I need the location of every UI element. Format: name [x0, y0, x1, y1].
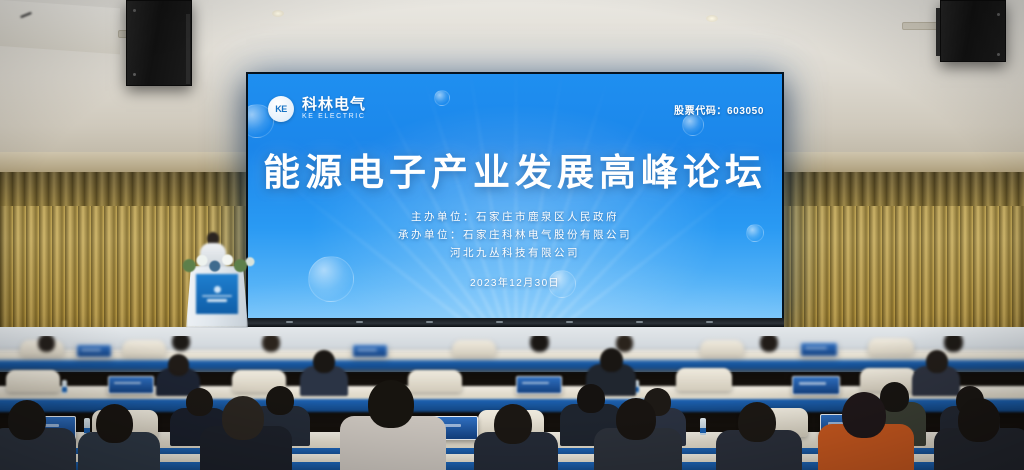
desk-monitor — [800, 342, 838, 357]
screen-bottom-bezel — [246, 318, 784, 327]
ceiling-speaker-left-mount — [186, 14, 190, 84]
attendee-head — [172, 336, 190, 351]
ceiling-downlight-2 — [272, 10, 284, 17]
audience-area — [0, 336, 1024, 470]
ceiling-speaker-right-mount — [936, 8, 940, 56]
attendee-head — [494, 404, 532, 444]
curtain-valance-left — [0, 172, 250, 206]
water-bottle — [62, 380, 67, 394]
desk-monitor — [108, 376, 154, 394]
brand-logo: KE 科林电气 KE ELECTRIC — [268, 96, 366, 122]
attendee-head — [944, 336, 963, 352]
organizer-cohost: 河北九丛科技有限公司 — [248, 244, 782, 262]
desk-monitor — [516, 376, 562, 394]
led-screen-content: KE 科林电气 KE ELECTRIC 股票代码：603050 能源电子产业发展… — [248, 74, 782, 322]
logo-mark-text: KE — [275, 104, 287, 114]
attendee-head — [168, 354, 189, 376]
organizer-list: 主办单位：石家庄市鹿泉区人民政府 承办单位：石家庄科林电气股份有限公司 河北九丛… — [248, 208, 782, 262]
stock-code-label: 股票代码：603050 — [674, 102, 764, 117]
desk-monitor — [76, 344, 112, 358]
attendee-head — [760, 336, 778, 352]
attendee-head — [842, 392, 886, 438]
attendee-head — [96, 404, 133, 443]
ke-logo-icon: KE — [268, 96, 294, 122]
podium-logo-icon — [214, 286, 221, 293]
attendee-head — [577, 384, 605, 413]
attendee-head — [926, 350, 948, 373]
attendee-head — [266, 386, 294, 415]
forum-title: 能源电子产业发展高峰论坛 — [248, 142, 782, 196]
organizer-coordinator: 承办单位：石家庄科林电气股份有限公司 — [248, 226, 782, 244]
curtain-valance-right — [778, 172, 1024, 206]
chair — [676, 368, 732, 391]
organizer-host: 主办单位：石家庄市鹿泉区人民政府 — [248, 208, 782, 226]
led-screen: KE 科林电气 KE ELECTRIC 股票代码：603050 能源电子产业发展… — [246, 72, 784, 324]
attendee-head — [222, 396, 264, 440]
ceiling-speaker-left — [126, 0, 192, 86]
attendee-head — [313, 350, 335, 373]
chair — [6, 370, 60, 392]
brand-name-cn: 科林电气 — [302, 97, 366, 113]
attendee-head — [738, 402, 776, 442]
bubble-decoration-2 — [434, 90, 450, 106]
ceiling-soffit — [0, 0, 120, 54]
attendee-head — [262, 336, 280, 352]
podium-branding-panel — [196, 274, 238, 314]
attendee-head — [616, 398, 656, 440]
attendee-head — [368, 380, 414, 428]
attendee-head — [600, 348, 623, 372]
attendee-head — [530, 336, 549, 352]
chair — [452, 340, 496, 356]
water-bottle — [700, 418, 706, 435]
conference-hall-photo: KE 科林电气 KE ELECTRIC 股票代码：603050 能源电子产业发展… — [0, 0, 1024, 470]
bubble-decoration-3 — [682, 114, 704, 136]
floral-arrangement — [178, 250, 258, 276]
podium-text-line-1 — [202, 295, 232, 297]
attendee-head — [958, 398, 1000, 442]
chair — [408, 370, 462, 392]
chair — [700, 340, 744, 356]
ceiling-speaker-right — [940, 0, 1006, 62]
attendee-head — [8, 400, 46, 440]
podium-text-line-2 — [207, 299, 227, 302]
brand-name-en: KE ELECTRIC — [302, 113, 366, 121]
chair — [868, 338, 914, 355]
attendee-head — [38, 336, 55, 352]
event-date: 2023年12月30日 — [248, 274, 782, 289]
desk-monitor — [352, 344, 388, 358]
ceiling-downlight-1 — [706, 15, 718, 22]
desk-monitor — [792, 376, 840, 395]
chair — [122, 340, 166, 356]
attendee-head — [186, 388, 213, 416]
